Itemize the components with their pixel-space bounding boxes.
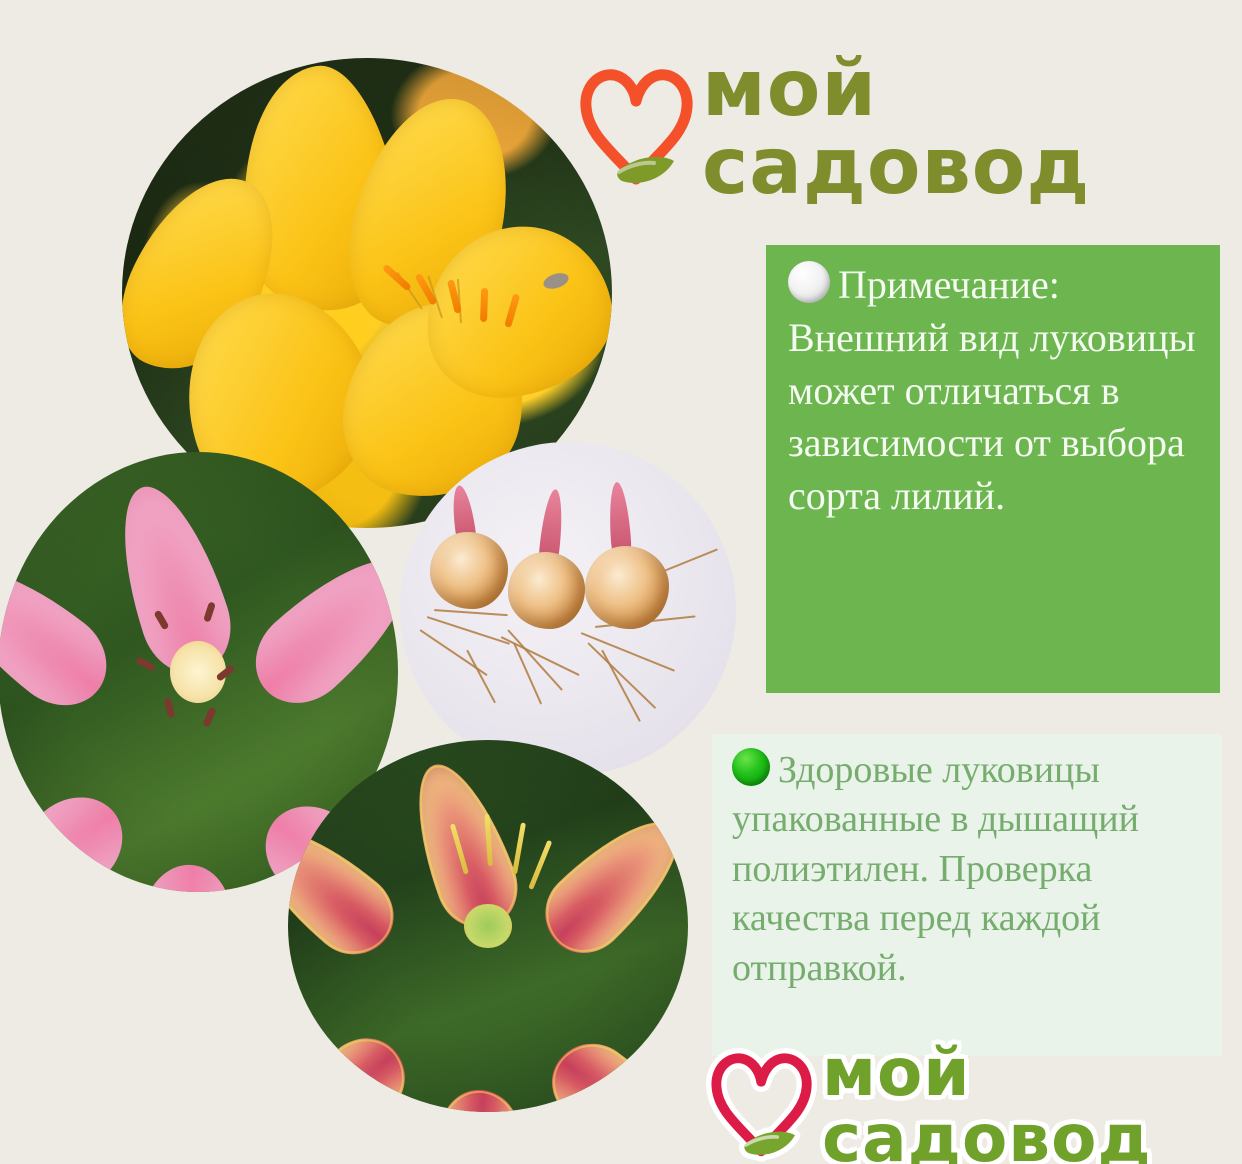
brand-name-top: мой садовод	[702, 50, 1218, 206]
flower-core	[464, 904, 512, 949]
petal	[536, 1028, 688, 1112]
petal	[100, 474, 244, 685]
note-secondary-text: Здоровые луковицы упакованные в дышащий …	[732, 749, 1139, 989]
white-ball-bullet-icon	[788, 261, 830, 303]
bulb	[430, 532, 507, 609]
heart-leaf-icon	[706, 1046, 818, 1164]
brand-logo-bottom: мой садовод	[706, 1048, 1226, 1164]
root	[434, 609, 508, 616]
flower-core	[170, 641, 226, 703]
root	[500, 636, 579, 676]
petal	[0, 541, 125, 724]
anther	[135, 657, 156, 673]
green-ball-bullet-icon	[732, 748, 770, 786]
root	[427, 616, 511, 645]
note-secondary-panel: Здоровые луковицы упакованные в дышащий …	[712, 734, 1222, 1056]
petal	[288, 1022, 422, 1112]
stamen	[528, 840, 552, 890]
bulb	[508, 552, 585, 629]
root	[587, 643, 656, 710]
stamen	[512, 822, 526, 874]
bulb	[585, 546, 669, 630]
root	[507, 629, 562, 690]
note-primary-panel: Примечание: Внешний вид луковицы может о…	[766, 245, 1220, 693]
anther	[202, 707, 217, 728]
petal	[528, 798, 688, 969]
petal	[0, 778, 141, 892]
root	[466, 650, 496, 704]
brand-logo-top: мой садовод	[578, 58, 1218, 198]
sprout	[607, 482, 632, 557]
petal	[426, 1085, 523, 1112]
photo-red-yellow-lily	[288, 740, 688, 1112]
anther	[164, 698, 176, 719]
stamen	[480, 288, 488, 322]
note-primary-text: Примечание: Внешний вид луковицы может о…	[788, 262, 1195, 518]
promo-banner: мой садовод Примечание: Внешний вид луко…	[0, 0, 1242, 1164]
heart-leaf-icon	[578, 61, 696, 196]
petal	[396, 752, 530, 940]
petal	[123, 859, 237, 892]
brand-name-bottom: мой садовод	[822, 1040, 1226, 1164]
photo-lily-bulbs	[400, 442, 736, 776]
petal	[237, 533, 398, 722]
